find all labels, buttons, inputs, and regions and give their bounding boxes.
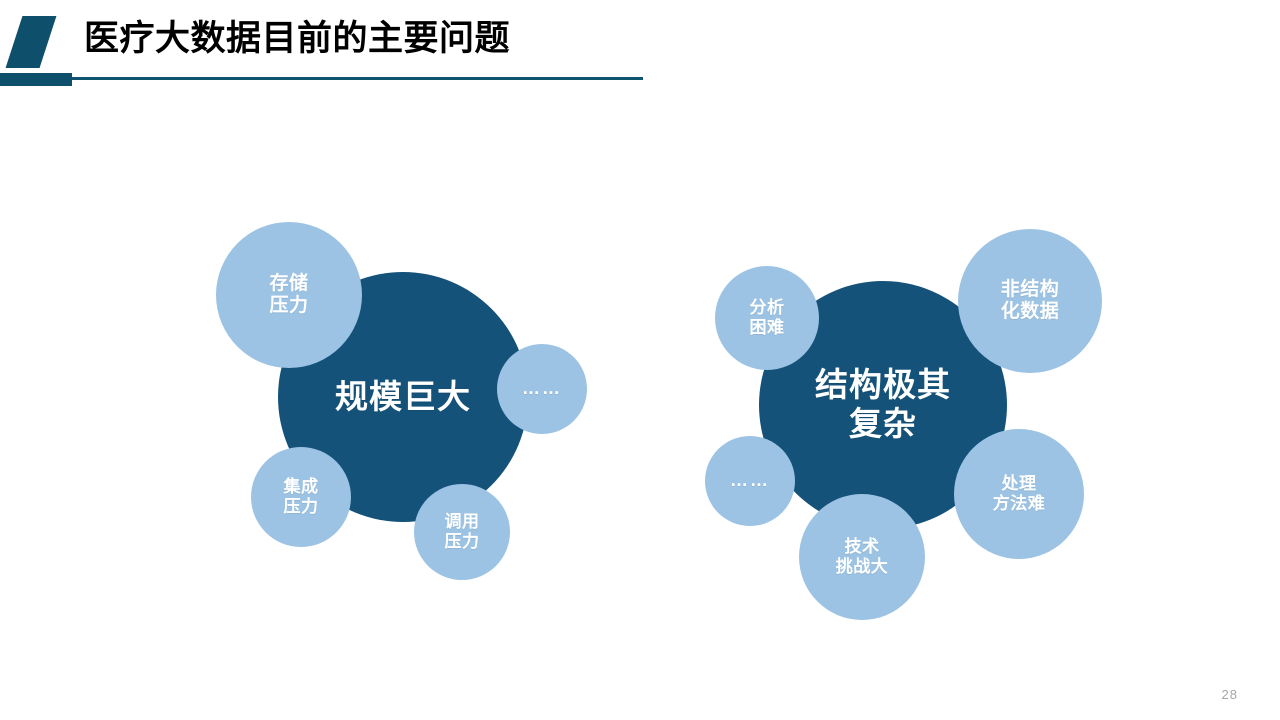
satellite-technical-challenge[interactable]: 技术 挑战大 <box>799 494 925 620</box>
satellite-storage-pressure-label: 存储 压力 <box>269 273 308 318</box>
satellite-analysis-difficulty-label: 分析 困难 <box>750 298 785 338</box>
satellite-storage-pressure[interactable]: 存储 压力 <box>216 222 362 368</box>
title-rule-thin <box>72 77 643 80</box>
page-title: 医疗大数据目前的主要问题 <box>84 17 510 61</box>
satellite-invocation-pressure[interactable]: 调用 压力 <box>414 484 510 580</box>
slide-canvas: 医疗大数据目前的主要问题 规模巨大 存储 压力 …… 集成 压力 调用 压力 结… <box>0 0 1280 720</box>
satellite-technical-challenge-label: 技术 挑战大 <box>836 537 889 577</box>
satellite-etc-right[interactable]: …… <box>705 436 795 526</box>
page-number: 28 <box>1222 687 1238 702</box>
satellite-etc-left[interactable]: …… <box>497 344 587 434</box>
title-accent-parallelogram <box>6 16 57 68</box>
satellite-unstructured-data[interactable]: 非结构 化数据 <box>958 229 1102 373</box>
satellite-etc-left-label: …… <box>522 378 562 399</box>
cluster-center-structure-label: 结构极其 复杂 <box>815 366 951 444</box>
satellite-integration-pressure[interactable]: 集成 压力 <box>251 447 351 547</box>
satellite-processing-method-difficulty[interactable]: 处理 方法难 <box>954 429 1084 559</box>
satellite-analysis-difficulty[interactable]: 分析 困难 <box>715 266 819 370</box>
cluster-center-scale-label: 规模巨大 <box>335 378 471 417</box>
satellite-processing-method-difficulty-label: 处理 方法难 <box>993 474 1046 514</box>
satellite-integration-pressure-label: 集成 压力 <box>284 477 319 517</box>
satellite-unstructured-data-label: 非结构 化数据 <box>1001 279 1060 324</box>
satellite-invocation-pressure-label: 调用 压力 <box>445 512 480 552</box>
title-rule-thick <box>0 73 72 86</box>
satellite-etc-right-label: …… <box>730 470 770 491</box>
